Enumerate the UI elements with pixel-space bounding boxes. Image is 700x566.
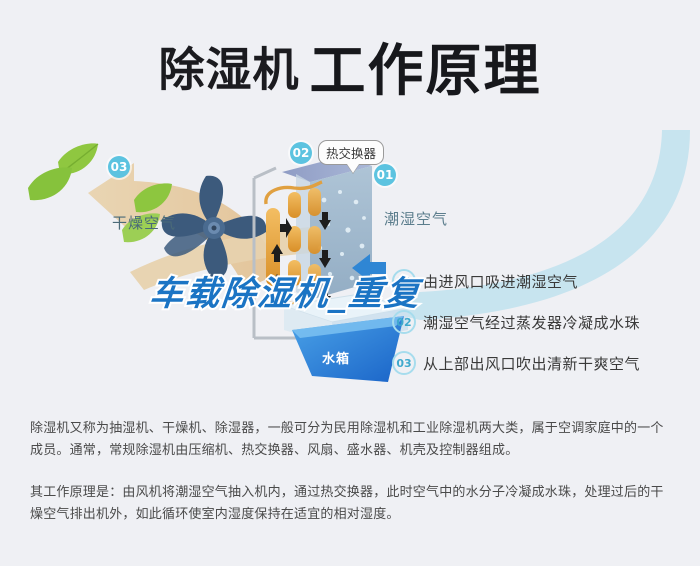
step-text: 由进风口吸进潮湿空气: [423, 271, 578, 292]
step-number: 03: [392, 351, 416, 375]
leaf-icon: [22, 158, 92, 218]
step-text: 从上部出风口吹出清新干爽空气: [423, 353, 640, 374]
infographic-page: 除湿机工作原理: [0, 0, 700, 566]
callout-03-label: 干燥空气: [112, 212, 176, 233]
paragraph-1: 除湿机又称为抽湿机、干燥机、除湿器，一般可分为民用除湿机和工业除湿机两大类，属于…: [30, 418, 675, 462]
callout-02-marker: 02: [290, 142, 312, 164]
water-tank-label: 水箱: [322, 348, 350, 367]
paragraph-2: 其工作原理是：由风机将潮湿空气抽入机内，通过热交换器，此时空气中的水分子冷凝成水…: [30, 482, 675, 526]
page-title: 除湿机工作原理: [0, 26, 700, 107]
watermark-overlay: 车载除湿机_重复: [147, 266, 423, 315]
list-item: 01 由进风口吸进潮湿空气: [392, 266, 692, 296]
callout-02-label: 热交换器: [318, 140, 384, 165]
step-text: 潮湿空气经过蒸发器冷凝成水珠: [423, 312, 640, 333]
callout-01-label: 潮湿空气: [384, 208, 448, 229]
list-item: 03 从上部出风口吹出清新干爽空气: [392, 348, 692, 378]
title-part-2: 工作原理: [310, 39, 542, 104]
callout-03-marker: 03: [108, 156, 130, 178]
callout-01-marker: 01: [374, 164, 396, 186]
list-item: 02 潮湿空气经过蒸发器冷凝成水珠: [392, 307, 692, 337]
step-list: 01 由进风口吸进潮湿空气 02 潮湿空气经过蒸发器冷凝成水珠 03 从上部出风…: [392, 266, 692, 389]
title-part-1: 除湿机: [159, 43, 300, 97]
